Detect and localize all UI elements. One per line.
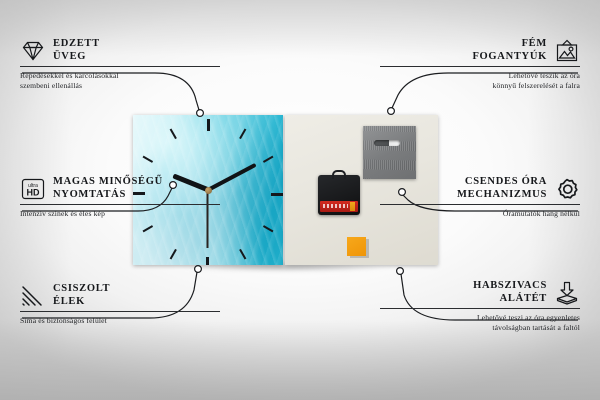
ultra-hd-icon: ultra HD <box>20 177 46 201</box>
wire-dot-metal-handles <box>388 108 395 115</box>
metal-hanger-plate <box>363 126 416 179</box>
hanging-frame-icon <box>554 39 580 63</box>
feature-foam-pad: HABSZIVACS ALÁTÉT Lehetővé teszi az óra … <box>380 280 580 333</box>
hanger-slot <box>374 140 400 146</box>
diamond-icon <box>20 39 46 63</box>
feature-title: CSENDES ÓRA <box>457 176 547 189</box>
feature-desc: Lehetővé teszi az óra egyenletes <box>380 313 580 323</box>
feature-desc: Lehetővé teszik az óra <box>380 71 580 81</box>
battery <box>320 201 358 212</box>
divider <box>20 204 220 205</box>
press-pad-icon <box>554 281 580 305</box>
feature-title: ÉLEK <box>53 296 110 309</box>
divider <box>380 204 580 205</box>
bevelled-edge-icon <box>20 284 46 308</box>
feature-desc: könnyű felszerelését a falra <box>380 81 580 91</box>
quartz-movement <box>318 175 360 215</box>
feature-desc: Óramutatók hang nélkül <box>380 209 580 219</box>
feature-high-quality-print: ultra HD MAGAS MINŐSÉGŰ NYOMTATÁS Intenz… <box>20 176 220 219</box>
feature-silent-mechanism: CSENDES ÓRA MECHANIZMUS Óramutatók hang … <box>380 176 580 219</box>
feature-desc: szembeni ellenállás <box>20 81 220 91</box>
feature-title: MECHANIZMUS <box>457 189 547 202</box>
feature-title: EDZETT <box>53 38 100 51</box>
feature-desc: Repedésekkel és karcolásokkal <box>20 71 220 81</box>
feature-tempered-glass: EDZETT ÜVEG Repedésekkel és karcolásokka… <box>20 38 220 91</box>
gear-icon <box>554 177 580 201</box>
divider <box>20 66 220 67</box>
divider <box>20 311 220 312</box>
divider <box>380 308 580 309</box>
feature-desc: Intenzív színek és éles kép <box>20 209 220 219</box>
movement-hanger-loop <box>332 170 346 179</box>
divider <box>380 66 580 67</box>
feature-title: FOGANTYÚK <box>472 51 547 64</box>
feature-title: FÉM <box>472 38 547 51</box>
svg-text:HD: HD <box>27 187 40 197</box>
feature-desc: Sima és biztonságos felület <box>20 316 220 326</box>
foam-pad <box>347 237 366 256</box>
feature-title: HABSZIVACS <box>473 280 547 293</box>
feature-title: ÜVEG <box>53 51 100 64</box>
feature-title: NYOMTATÁS <box>53 189 163 202</box>
feature-metal-handles: FÉM FOGANTYÚK Lehetővé teszik az óra kön… <box>380 38 580 91</box>
feature-title: ALÁTÉT <box>473 293 547 306</box>
feature-title: MAGAS MINŐSÉGŰ <box>53 176 163 189</box>
feature-desc: távolságban tartását a faltól <box>380 323 580 333</box>
feature-title: CSISZOLT <box>53 283 110 296</box>
feature-polished-edges: CSISZOLT ÉLEK Sima és biztonságos felüle… <box>20 283 220 326</box>
